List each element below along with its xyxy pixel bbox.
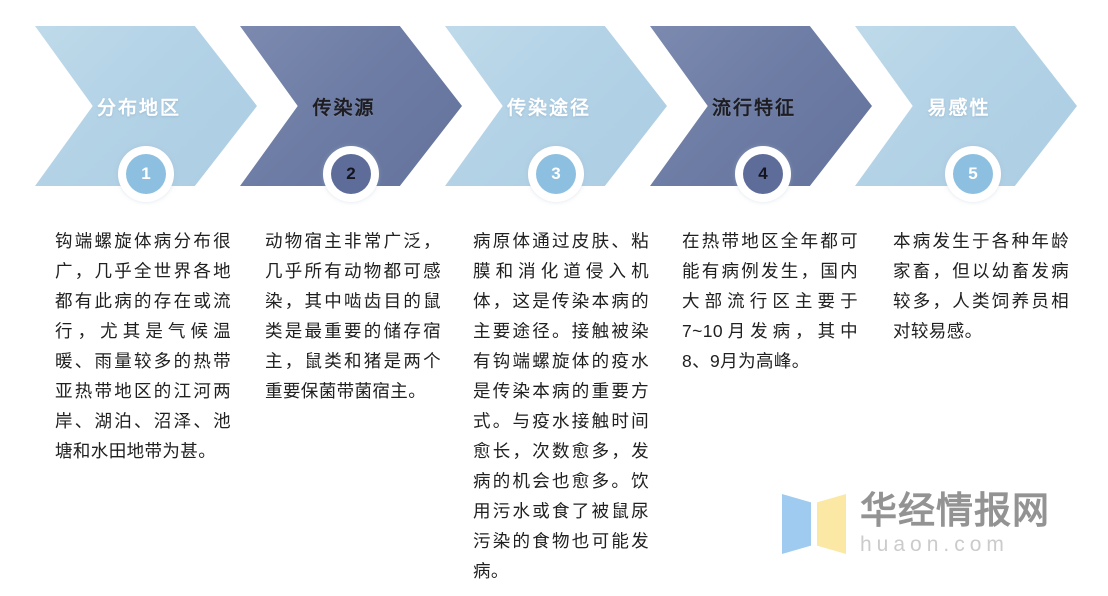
step-badge-number-3: 3: [536, 154, 576, 194]
step-badge-number-4: 4: [743, 154, 783, 194]
process-infographic: 分布地区 传染源 传染途径 流行特征 易感性 1 2 3 4: [0, 0, 1108, 596]
description-text-2: 动物宿主非常广泛，几乎所有动物都可感染，其中啮齿目的鼠类是最重要的储存宿主，鼠类…: [265, 226, 441, 406]
description-text-5: 本病发生于各种年龄家畜，但以幼畜发病较多，人类饲养员相对较易感。: [893, 226, 1069, 346]
step-badge-3[interactable]: 3: [528, 146, 584, 202]
description-text-3: 病原体通过皮肤、粘膜和消化道侵入机体，这是传染本病的主要途径。接触被染有钩端螺旋…: [473, 226, 649, 586]
step-badge-5[interactable]: 5: [945, 146, 1001, 202]
step-badge-number-1: 1: [126, 154, 166, 194]
watermark-brand-en: huaon.com: [860, 532, 1050, 558]
watermark-text: 华经情报网 huaon.com: [860, 490, 1050, 558]
book-logo-icon: [782, 494, 846, 554]
book-logo-right-page: [817, 494, 846, 554]
book-logo-left-page: [782, 494, 811, 554]
description-text-1: 钩端螺旋体病分布很广，几乎全世界各地都有此病的存在或流行，尤其是气候温暖、雨量较…: [55, 226, 231, 466]
step-badge-4[interactable]: 4: [735, 146, 791, 202]
step-badge-2[interactable]: 2: [323, 146, 379, 202]
watermark-logo: 华经情报网 huaon.com: [782, 478, 1082, 570]
watermark-brand-cn: 华经情报网: [860, 490, 1050, 532]
chevron-step-band: 分布地区 传染源 传染途径 流行特征 易感性 1 2 3 4: [0, 0, 1108, 212]
step-badge-number-2: 2: [331, 154, 371, 194]
step-badge-1[interactable]: 1: [118, 146, 174, 202]
description-text-4: 在热带地区全年都可能有病例发生，国内大部流行区主要于7~10月发病，其中8、9月…: [682, 226, 858, 376]
step-badge-number-5: 5: [953, 154, 993, 194]
